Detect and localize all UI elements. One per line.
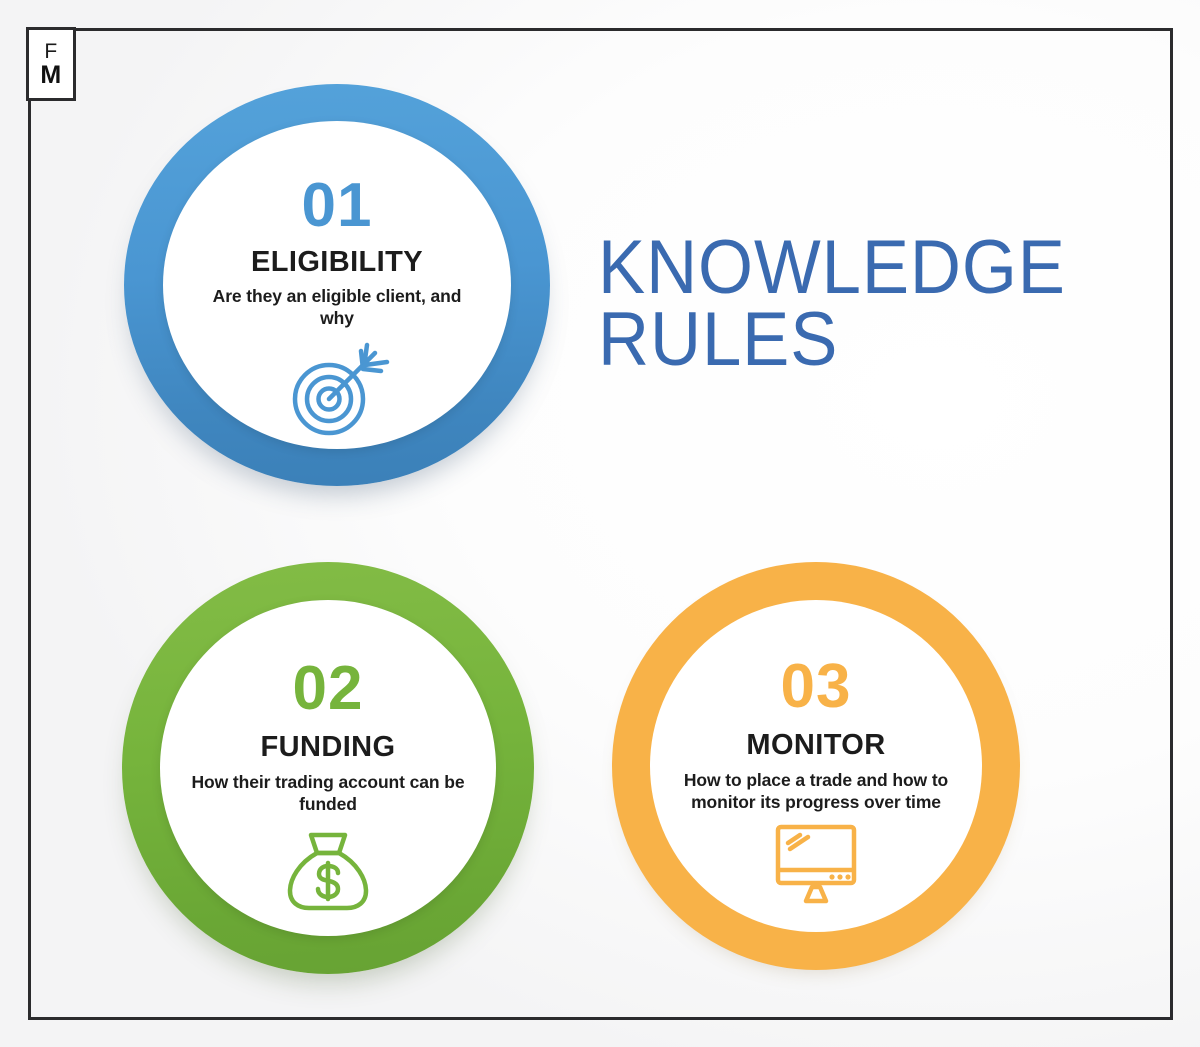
step-number-01: 01 [302, 175, 373, 237]
fm-logo-letter-f: F [44, 41, 57, 62]
step-description-eligibility: Are they an eligible client, and why [197, 286, 477, 329]
step-title-eligibility: ELIGIBILITY [251, 247, 423, 277]
fm-logo: F M [26, 27, 76, 101]
step-card-monitor: 03 MONITOR How to place a trade and how … [650, 600, 982, 932]
step-number-03: 03 [781, 656, 852, 718]
step-circle-eligibility: 01 ELIGIBILITY Are they an eligible clie… [124, 84, 550, 486]
money-bag-icon [285, 831, 371, 913]
fm-logo-letter-m: M [40, 63, 61, 88]
step-card-eligibility: 01 ELIGIBILITY Are they an eligible clie… [163, 121, 511, 449]
step-description-monitor: How to place a trade and how to monitor … [666, 770, 966, 813]
step-card-funding: 02 FUNDING How their trading account can… [160, 600, 496, 936]
target-arrow-icon [283, 341, 391, 441]
step-description-funding: How their trading account can be funded [183, 772, 473, 815]
step-number-02: 02 [293, 658, 364, 720]
monitor-screen-icon [766, 823, 866, 907]
step-title-monitor: MONITOR [746, 730, 885, 760]
step-circle-monitor: 03 MONITOR How to place a trade and how … [612, 562, 1020, 970]
page-title-line-1: KNOWLEDGE [598, 232, 1082, 304]
page-title: KNOWLEDGE RULES [598, 232, 1082, 376]
step-circle-funding: 02 FUNDING How their trading account can… [122, 562, 534, 974]
infographic-canvas: F M KNOWLEDGE RULES 01 ELIGIBILITY Are t… [0, 0, 1200, 1047]
page-title-line-2: RULES [598, 304, 1082, 376]
step-title-funding: FUNDING [261, 732, 396, 762]
